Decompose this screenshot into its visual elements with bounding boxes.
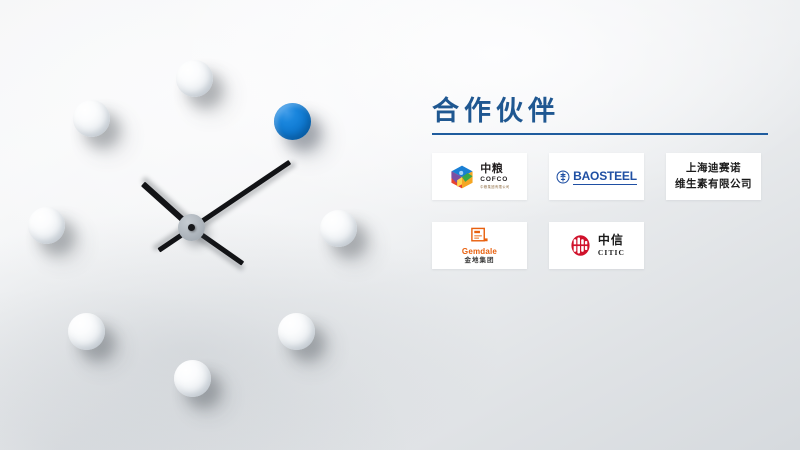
page-title: 合作伙伴: [432, 96, 772, 127]
partner-logo-grid: 中粮 COFCO 中粮集团有限公司 BAOSTEEL: [432, 153, 772, 269]
gemdale-name-en: Gemdale: [462, 248, 497, 256]
citic-text: 中信 CITIC: [598, 234, 625, 257]
cofco-tagline: 中粮集团有限公司: [480, 186, 510, 189]
clock-marker-3: [320, 210, 357, 247]
partner-card-disano[interactable]: 上海迪赛诺 维生素有限公司: [666, 153, 761, 200]
disano-line-1: 上海迪赛诺: [675, 161, 752, 176]
title-underline: [432, 133, 768, 135]
clock-minute-hand: [191, 160, 292, 230]
clock-center-cap: [188, 224, 195, 231]
clock-marker-11: [73, 100, 110, 137]
wall-clock-graphic: [0, 0, 400, 450]
partner-card-baosteel[interactable]: BAOSTEEL: [549, 153, 644, 200]
clock-marker-12: [176, 60, 213, 97]
clock-marker-highlight: [274, 103, 311, 140]
citic-emblem-icon: [568, 233, 593, 258]
partner-card-cofco[interactable]: 中粮 COFCO 中粮集团有限公司: [432, 153, 527, 200]
partner-card-citic[interactable]: 中信 CITIC: [549, 222, 644, 269]
clock-marker-5: [278, 313, 315, 350]
gemdale-lockup: Gemdale 金地集团: [462, 227, 497, 265]
clock-marker-7: [68, 313, 105, 350]
partners-panel: 合作伙伴 中粮: [432, 96, 772, 269]
clock-marker-6: [174, 360, 211, 397]
gemdale-square-icon: [470, 227, 489, 246]
cofco-lockup: 中粮 COFCO 中粮集团有限公司: [449, 164, 510, 190]
disano-line-2: 维生素有限公司: [675, 177, 752, 192]
cofco-name-en: COFCO: [480, 177, 508, 184]
cofco-name-cn: 中粮: [480, 164, 503, 175]
citic-name-en: CITIC: [598, 249, 625, 257]
citic-lockup: 中信 CITIC: [568, 233, 625, 258]
gemdale-name-cn: 金地集团: [464, 258, 494, 265]
baosteel-lockup: BAOSTEEL: [556, 169, 637, 185]
clock-marker-9: [28, 207, 65, 244]
baosteel-wordmark: BAOSTEEL: [573, 169, 637, 185]
citic-name-cn: 中信: [598, 234, 624, 246]
cofco-text: 中粮 COFCO 中粮集团有限公司: [480, 164, 510, 189]
partner-card-gemdale[interactable]: Gemdale 金地集团: [432, 222, 527, 269]
slide-canvas: 合作伙伴 中粮: [0, 0, 800, 450]
cofco-cube-icon: [449, 164, 475, 190]
disano-text: 上海迪赛诺 维生素有限公司: [675, 161, 752, 191]
baosteel-emblem-icon: [556, 170, 570, 184]
